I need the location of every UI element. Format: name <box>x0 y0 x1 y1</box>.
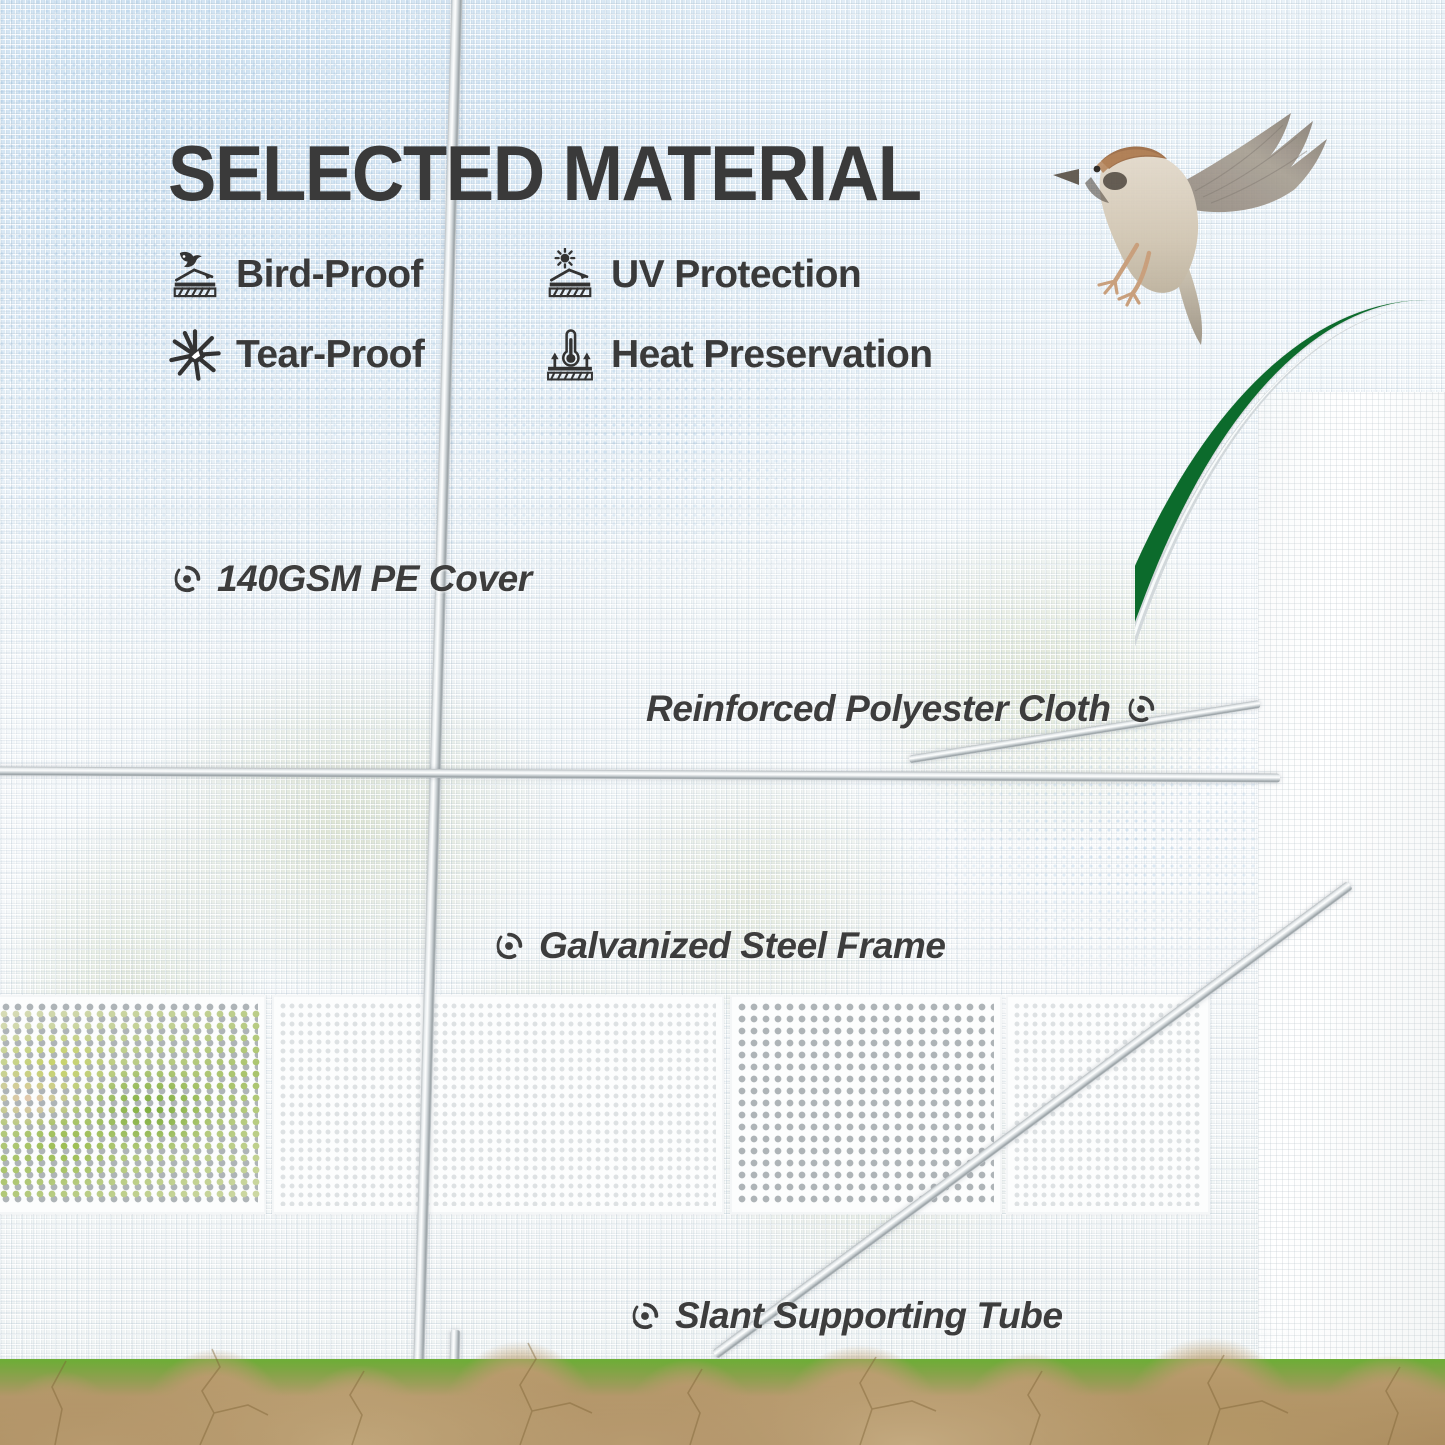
target-icon <box>628 1299 662 1333</box>
vent-panel <box>730 995 1002 1214</box>
feature-row: Tear-Proof <box>168 328 1048 382</box>
perforation-pattern <box>280 1003 716 1206</box>
target-icon <box>492 929 526 963</box>
sun-deflect-icon <box>543 248 597 302</box>
callout-label: Galvanized Steel Frame <box>539 925 946 967</box>
callout-label: 140GSM PE Cover <box>217 558 532 600</box>
feature-row: Bird-Proof <box>168 248 1048 302</box>
callout-reinforced-polyester-cloth: Reinforced Polyester Cloth <box>646 688 1158 730</box>
callout-galvanized-steel-frame: Galvanized Steel Frame <box>492 925 946 967</box>
bird-deflect-icon <box>168 248 222 302</box>
feature-list: Bird-Proof <box>168 248 1048 408</box>
greenhouse-arch <box>1135 300 1445 1445</box>
feature-item-heat-preservation: Heat Preservation <box>543 328 932 382</box>
feature-label: UV Protection <box>611 253 861 297</box>
product-feature-image: SELECTED MATERIAL <box>0 0 1445 1445</box>
callout-label: Reinforced Polyester Cloth <box>646 688 1111 730</box>
feature-label: Heat Preservation <box>611 333 932 377</box>
callout-slant-supporting-tube: Slant Supporting Tube <box>628 1295 1063 1337</box>
callout-label: Slant Supporting Tube <box>675 1295 1063 1337</box>
target-icon <box>1124 692 1158 726</box>
vent-panel <box>272 995 724 1214</box>
greenery-through-vent <box>0 1010 262 1200</box>
feature-label: Bird-Proof <box>236 253 423 297</box>
tear-burst-icon <box>168 328 222 382</box>
feature-item-uv-protection: UV Protection <box>543 248 861 302</box>
feature-item-tear-proof: Tear-Proof <box>168 328 543 382</box>
sparrow-in-flight <box>1045 95 1375 365</box>
page-title: SELECTED MATERIAL <box>168 134 921 212</box>
feature-item-bird-proof: Bird-Proof <box>168 248 543 302</box>
callout-140gsm-pe-cover: 140GSM PE Cover <box>170 558 532 600</box>
feature-label: Tear-Proof <box>236 333 424 377</box>
thermometer-heat-icon <box>543 328 597 382</box>
target-icon <box>170 562 204 596</box>
